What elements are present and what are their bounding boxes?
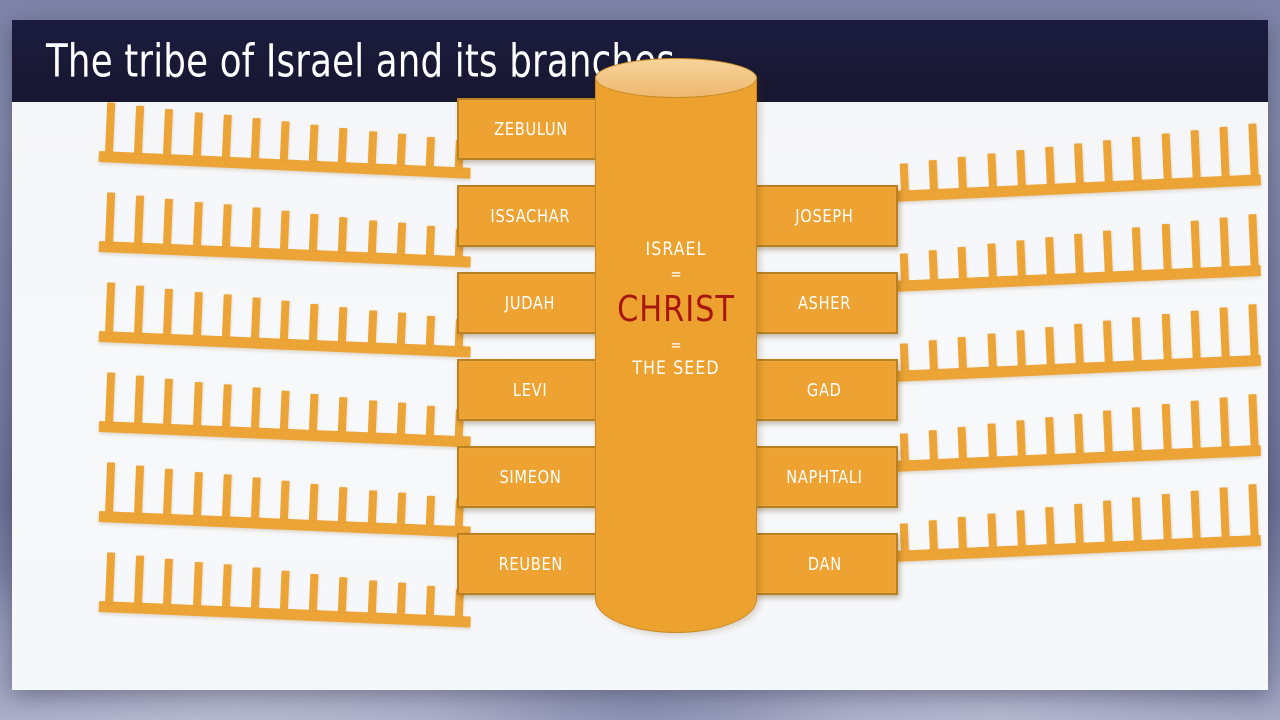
slide-canvas: ZEBULUNISSACHARJUDAHLEVISIMEONREUBENJOSE… [12, 20, 1268, 690]
branch-tooth [987, 243, 996, 277]
branch-tooth [396, 313, 405, 345]
branch-tooth [900, 163, 909, 191]
branch-tooth [1219, 397, 1229, 447]
branch-tooth [1074, 324, 1084, 364]
branch-tooth [900, 523, 909, 551]
branch-tooth [1103, 500, 1113, 542]
center-line-israel: ISRAEL [601, 238, 750, 262]
branch-tooth [134, 195, 144, 243]
tribe-label: ASHER [798, 293, 851, 314]
branch-tooth [280, 481, 290, 520]
branch-tooth [1045, 417, 1055, 455]
branch-comb-right [891, 121, 1262, 202]
tribe-label: JUDAH [505, 293, 555, 314]
branch-tooth [987, 153, 997, 187]
branch-tooth [1248, 214, 1258, 266]
branch-tooth [105, 372, 115, 422]
branch-comb-right [891, 392, 1261, 472]
branch-tooth [900, 253, 909, 281]
branch-tooth [1074, 504, 1084, 544]
branch-tooth [309, 574, 319, 611]
tribe-box-issachar[interactable]: ISSACHAR [457, 185, 604, 247]
slide-root: ZEBULUNISSACHARJUDAHLEVISIMEONREUBENJOSE… [0, 0, 1280, 720]
branch-tooth [367, 580, 376, 614]
branch-tooth [280, 301, 290, 340]
branch-tooth [251, 388, 261, 429]
branch-tooth [163, 109, 173, 156]
tribe-label: GAD [807, 380, 842, 401]
branch-tooth [163, 468, 173, 515]
branch-tooth [987, 423, 996, 457]
branch-tooth [338, 307, 347, 343]
branch-tooth [1190, 401, 1200, 449]
tribe-box-joseph[interactable]: JOSEPH [751, 185, 898, 247]
page-title: The tribe of Israel and its branches [46, 35, 675, 88]
tribe-label: ZEBULUN [494, 119, 568, 140]
branch-tooth [900, 433, 909, 461]
branch-tooth [192, 201, 202, 246]
branch-tooth [1248, 394, 1258, 446]
branch-tooth [251, 208, 261, 249]
branch-tooth [396, 403, 405, 435]
tribe-label: DAN [808, 554, 842, 575]
tribe-box-dan[interactable]: DAN [751, 533, 898, 595]
branch-tooth [958, 337, 967, 369]
branch-tooth [1074, 414, 1084, 454]
branch-tooth [1161, 404, 1171, 450]
branch-tooth [105, 192, 115, 242]
branch-tooth [134, 465, 144, 513]
branch-tooth [1016, 150, 1026, 186]
branch-tooth [1161, 314, 1171, 360]
branch-tooth [987, 333, 996, 367]
israel-cylinder[interactable]: ISRAEL = CHRIST = THE SEED [595, 58, 757, 633]
branch-tooth [1103, 230, 1113, 272]
branch-tooth [309, 394, 319, 431]
tribe-box-simeon[interactable]: SIMEON [457, 446, 604, 508]
branch-tooth [1161, 224, 1171, 270]
branch-tooth [105, 552, 115, 602]
branch-tooth [163, 288, 173, 335]
branch-tooth [105, 462, 115, 512]
branch-tooth [222, 474, 232, 517]
branch-tooth [1103, 140, 1113, 182]
branch-tooth [134, 285, 144, 333]
branch-comb-right [891, 482, 1261, 562]
branch-tooth [367, 131, 377, 165]
branch-tooth [958, 517, 967, 549]
branch-tooth [1161, 494, 1171, 540]
branch-tooth [929, 430, 938, 460]
branch-tooth [1190, 311, 1200, 359]
branch-tooth [1219, 307, 1229, 357]
branch-tooth [1045, 237, 1055, 275]
branch-tooth [222, 384, 232, 427]
tribe-box-levi[interactable]: LEVI [457, 359, 604, 421]
branch-tooth [338, 577, 347, 613]
branch-tooth [280, 571, 290, 610]
branch-tooth [396, 134, 405, 166]
branch-tooth [1248, 484, 1258, 536]
branch-comb-left [99, 458, 473, 538]
branch-tooth [222, 204, 232, 247]
branch-tooth [1132, 317, 1142, 361]
branch-tooth [1016, 420, 1026, 456]
branch-tooth [958, 247, 967, 279]
branch-tooth [1219, 487, 1229, 537]
tribe-box-gad[interactable]: GAD [751, 359, 898, 421]
branch-comb-left [99, 368, 473, 448]
branch-comb-right [891, 302, 1261, 382]
branch-tooth [338, 397, 347, 433]
tribe-label: LEVI [513, 380, 547, 401]
branch-tooth [192, 112, 202, 157]
cylinder-text: ISRAEL = CHRIST = THE SEED [595, 238, 757, 381]
branch-tooth [163, 558, 173, 605]
branch-tooth [1190, 221, 1200, 269]
branch-tooth [1045, 327, 1055, 365]
tribe-box-naphtali[interactable]: NAPHTALI [751, 446, 898, 508]
branch-tooth [1016, 240, 1026, 276]
branch-tooth [929, 520, 938, 550]
branch-tooth [105, 102, 115, 152]
branch-tooth [900, 343, 909, 371]
branch-tooth [929, 250, 938, 280]
branch-comb-left [99, 548, 473, 628]
branch-comb-left [99, 188, 473, 268]
branch-tooth [222, 564, 232, 607]
branch-tooth [280, 211, 290, 250]
branch-tooth [309, 484, 319, 521]
tribe-box-zebulun[interactable]: ZEBULUN [457, 98, 604, 160]
branch-tooth [280, 121, 290, 160]
branch-tooth [1132, 137, 1142, 181]
branch-tooth [987, 513, 996, 547]
branch-tooth [251, 478, 261, 519]
branch-tooth [1074, 234, 1084, 274]
branch-tooth [396, 583, 405, 615]
tribe-box-judah[interactable]: JUDAH [457, 272, 604, 334]
branch-tooth [1016, 510, 1026, 546]
branch-tooth [396, 493, 405, 525]
branch-tooth [1132, 407, 1142, 451]
branch-tooth [134, 105, 144, 153]
branch-tooth [1219, 217, 1229, 267]
branch-comb-right [891, 212, 1261, 292]
branch-tooth [426, 406, 435, 436]
center-line-seed: THE SEED [601, 357, 750, 381]
diagram-area: ZEBULUNISSACHARJUDAHLEVISIMEONREUBENJOSE… [12, 20, 1268, 638]
branch-tooth [1016, 330, 1026, 366]
branch-tooth [280, 391, 290, 430]
branch-tooth [309, 304, 319, 341]
branch-tooth [1219, 127, 1229, 177]
branch-tooth [426, 496, 435, 526]
branch-tooth [309, 124, 319, 161]
center-line-christ: CHRIST [600, 287, 752, 332]
branch-tooth [1132, 227, 1142, 271]
tribe-label: JOSEPH [795, 206, 853, 227]
branch-tooth [929, 340, 938, 370]
branch-comb-left [99, 278, 473, 358]
cylinder-top-ellipse [595, 58, 757, 98]
branch-tooth [192, 561, 202, 606]
branch-tooth [192, 471, 202, 516]
branch-tooth [958, 157, 967, 189]
tribe-box-asher[interactable]: ASHER [751, 272, 898, 334]
branch-tooth [958, 427, 967, 459]
branch-tooth [251, 298, 261, 339]
branch-tooth [338, 487, 347, 523]
center-equals-1: = [595, 262, 757, 286]
branch-tooth [1248, 123, 1258, 175]
tribe-label: SIMEON [499, 467, 561, 488]
branch-tooth [367, 400, 376, 434]
branch-tooth [367, 220, 376, 254]
branch-tooth [1103, 410, 1113, 452]
branch-comb-left [99, 98, 474, 179]
branch-tooth [309, 214, 319, 251]
branch-tooth [426, 316, 435, 346]
branch-tooth [1161, 133, 1171, 179]
branch-tooth [251, 568, 261, 609]
tribe-label: REUBEN [498, 554, 562, 575]
branch-tooth [1190, 130, 1200, 178]
branch-tooth [929, 160, 938, 190]
branch-tooth [338, 217, 347, 253]
branch-tooth [367, 490, 376, 524]
branch-tooth [1045, 147, 1055, 185]
branch-tooth [192, 381, 202, 426]
tribe-label: NAPHTALI [786, 467, 862, 488]
branch-tooth [192, 291, 202, 336]
branch-tooth [1045, 507, 1055, 545]
branch-tooth [222, 294, 232, 337]
branch-tooth [1248, 304, 1258, 356]
branch-tooth [426, 586, 435, 616]
branch-tooth [396, 223, 405, 255]
branch-tooth [251, 118, 261, 159]
branch-tooth [338, 128, 348, 164]
branch-tooth [134, 375, 144, 423]
branch-tooth [105, 282, 115, 332]
branch-tooth [1103, 320, 1113, 362]
branch-tooth [163, 198, 173, 245]
branch-tooth [163, 378, 173, 425]
branch-tooth [134, 555, 144, 603]
tribe-box-reuben[interactable]: REUBEN [457, 533, 604, 595]
branch-tooth [425, 137, 434, 167]
branch-tooth [1190, 491, 1200, 539]
branch-tooth [426, 226, 435, 256]
branch-tooth [222, 115, 232, 158]
center-equals-2: = [595, 333, 757, 357]
tribe-label: ISSACHAR [491, 206, 571, 227]
branch-tooth [367, 310, 376, 344]
branch-tooth [1132, 497, 1142, 541]
branch-tooth [1074, 143, 1084, 183]
